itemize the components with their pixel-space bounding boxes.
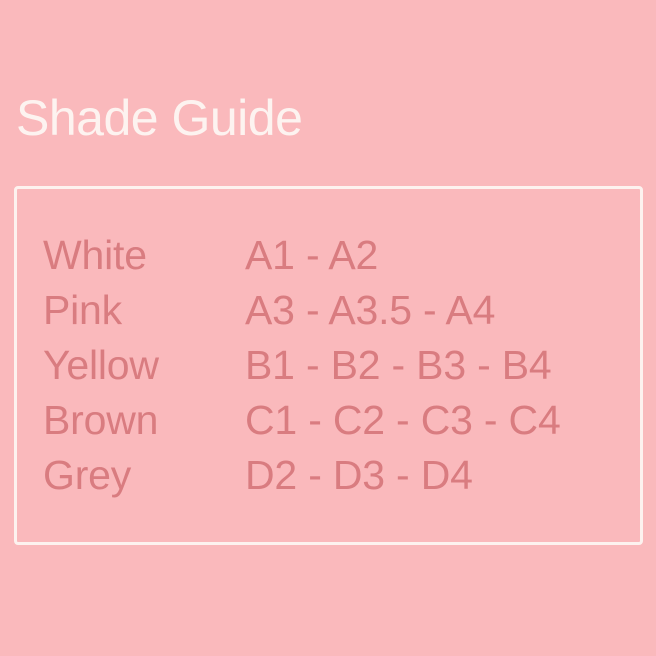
table-row: Pink A3 - A3.5 - A4 bbox=[43, 283, 623, 338]
shade-name-label: Grey bbox=[43, 448, 245, 503]
shade-name-label: Brown bbox=[43, 393, 245, 448]
table-row: Brown C1 - C2 - C3 - C4 bbox=[43, 393, 623, 448]
page-title: Shade Guide bbox=[16, 93, 302, 143]
shade-values-label: B1 - B2 - B3 - B4 bbox=[245, 338, 623, 393]
shade-guide-panel: White A1 - A2 Pink A3 - A3.5 - A4 Yellow… bbox=[14, 186, 643, 545]
shade-values-label: D2 - D3 - D4 bbox=[245, 448, 623, 503]
shade-values-label: A3 - A3.5 - A4 bbox=[245, 283, 623, 338]
shade-name-label: Yellow bbox=[43, 338, 245, 393]
table-row: White A1 - A2 bbox=[43, 228, 623, 283]
shade-guide-table: White A1 - A2 Pink A3 - A3.5 - A4 Yellow… bbox=[43, 228, 623, 503]
shade-guide-card: Shade Guide White A1 - A2 Pink A3 - A3.5… bbox=[0, 0, 656, 656]
table-row: Grey D2 - D3 - D4 bbox=[43, 448, 623, 503]
shade-name-label: Pink bbox=[43, 283, 245, 338]
shade-values-label: C1 - C2 - C3 - C4 bbox=[245, 393, 623, 448]
table-row: Yellow B1 - B2 - B3 - B4 bbox=[43, 338, 623, 393]
shade-name-label: White bbox=[43, 228, 245, 283]
shade-values-label: A1 - A2 bbox=[245, 228, 623, 283]
